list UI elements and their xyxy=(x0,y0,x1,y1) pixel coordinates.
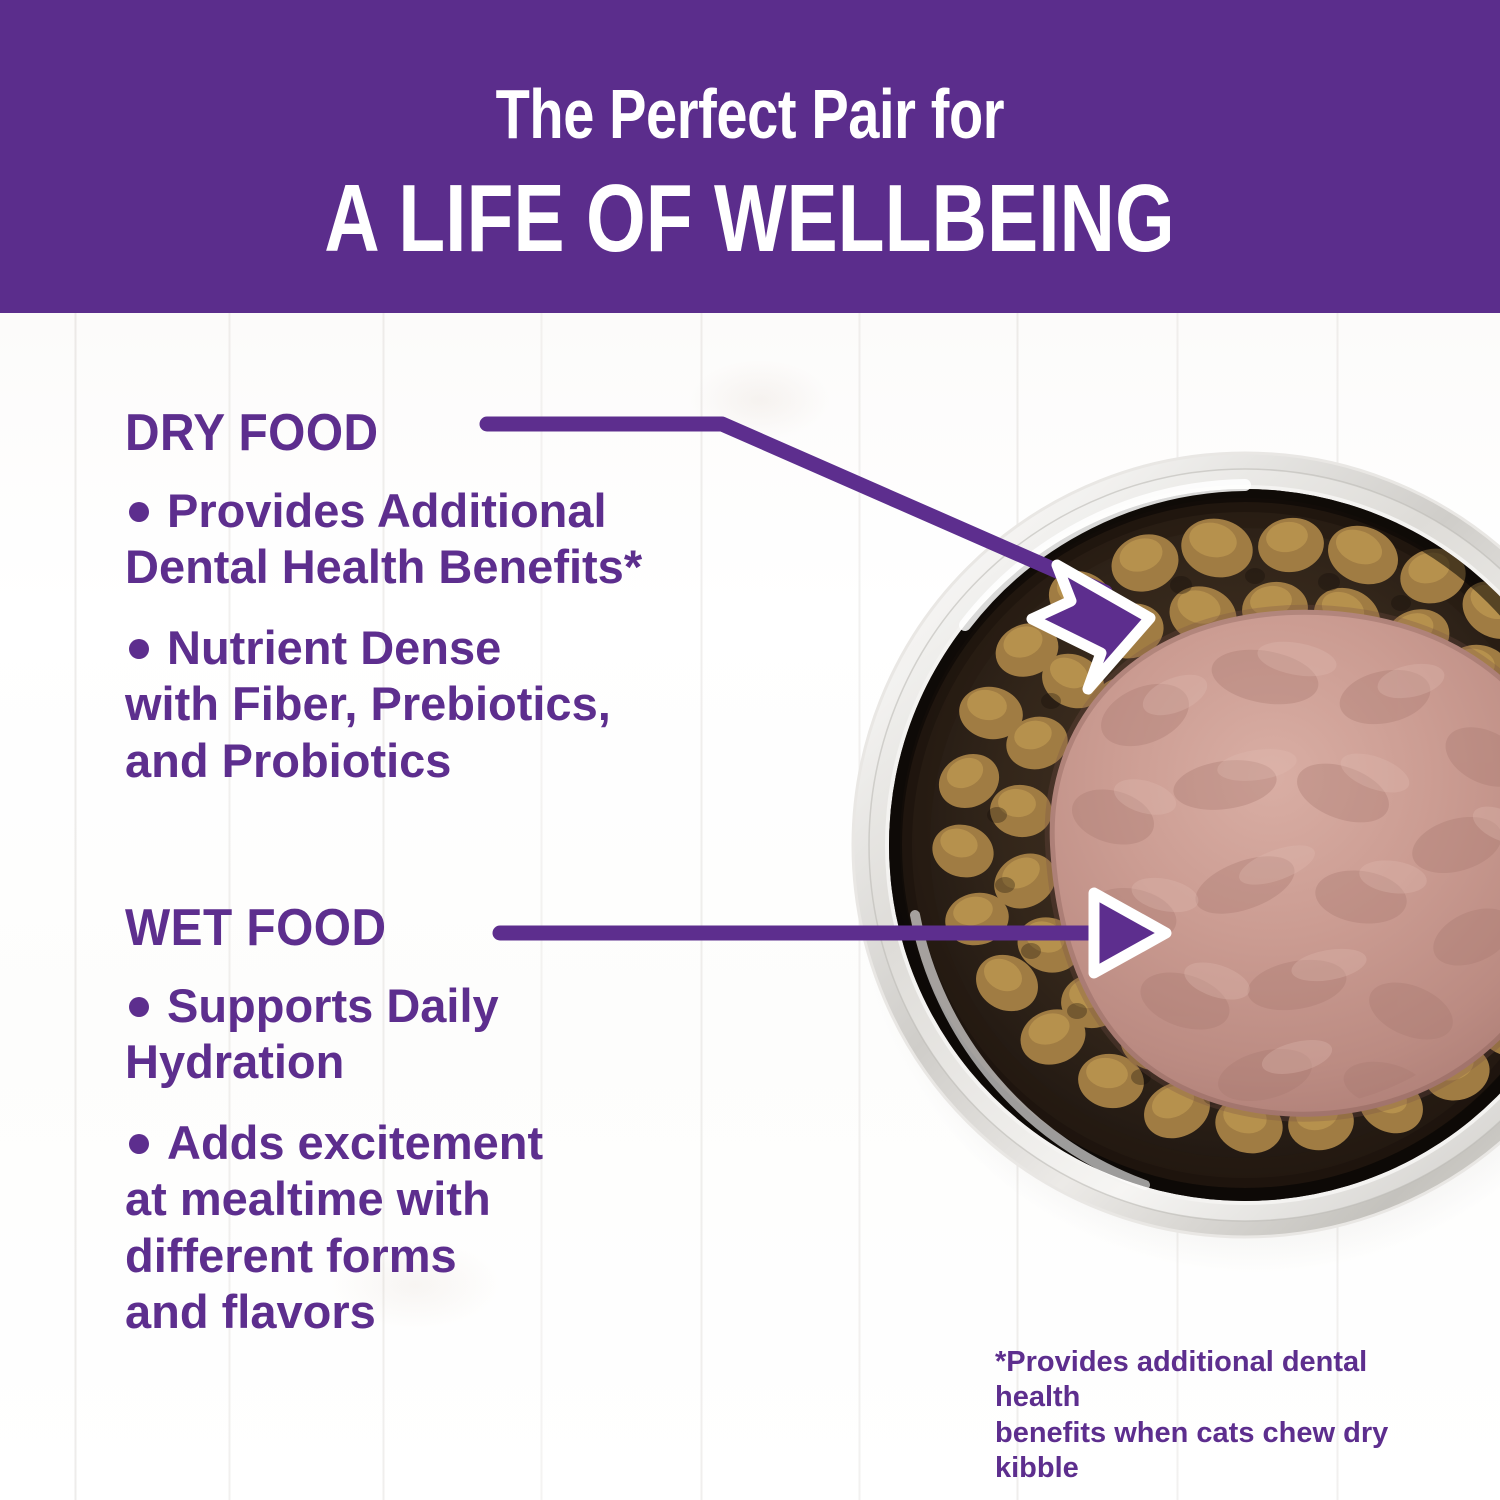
bullet-dot-icon xyxy=(129,997,149,1017)
list-item: Adds excitement at mealtime with differe… xyxy=(125,1115,785,1341)
benefits-copy-column: DRY FOOD Provides Additional Dental Heal… xyxy=(0,313,830,1500)
list-item: Provides Additional Dental Health Benefi… xyxy=(125,483,785,596)
list-item: Supports Daily Hydration xyxy=(125,978,785,1091)
bullet-dot-icon xyxy=(129,1134,149,1154)
wet-pate xyxy=(1050,610,1500,1117)
cat-food-bowl-image xyxy=(845,445,1500,1305)
wet-food-bullet-list: Supports Daily Hydration Adds excitement… xyxy=(125,978,785,1364)
header-title-line1: The Perfect Pair for xyxy=(496,79,1005,150)
list-item-label: Adds excitement at mealtime with differe… xyxy=(125,1116,543,1338)
dry-food-heading: DRY FOOD xyxy=(125,403,379,463)
wet-food-heading: WET FOOD xyxy=(125,898,386,958)
list-item-label: Nutrient Dense with Fiber, Prebiotics, a… xyxy=(125,621,611,787)
header-banner: The Perfect Pair for A LIFE OF WELLBEING xyxy=(0,0,1500,313)
list-item-label: Supports Daily Hydration xyxy=(125,979,499,1088)
list-item-label: Provides Additional Dental Health Benefi… xyxy=(125,484,642,593)
bullet-dot-icon xyxy=(129,639,149,659)
bullet-dot-icon xyxy=(129,502,149,522)
list-item: Nutrient Dense with Fiber, Prebiotics, a… xyxy=(125,620,785,789)
footnote-text: *Provides additional dental health benef… xyxy=(995,1345,1455,1487)
infographic-page: The Perfect Pair for A LIFE OF WELLBEING… xyxy=(0,0,1500,1500)
dry-food-bullet-list: Provides Additional Dental Health Benefi… xyxy=(125,483,785,813)
header-title-line2: A LIFE OF WELLBEING xyxy=(325,170,1175,268)
